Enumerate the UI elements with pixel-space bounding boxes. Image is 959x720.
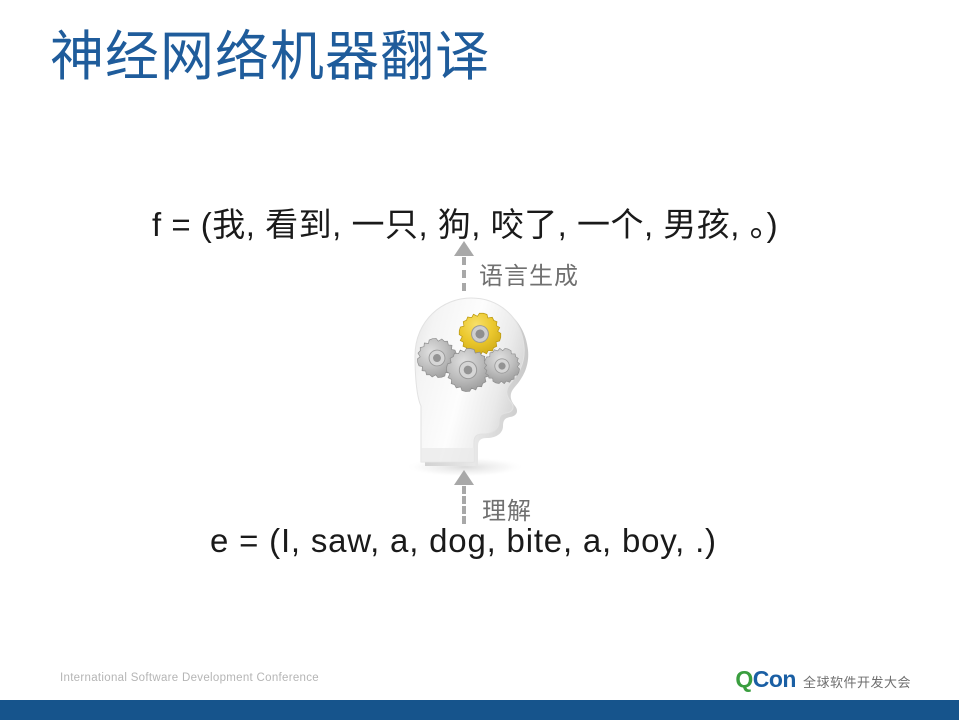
understanding-label: 理解 (482, 491, 532, 526)
footer-conference-text: International Software Development Confe… (60, 672, 319, 684)
arrow-head-up-icon (454, 470, 474, 485)
arrow-head-up-icon (454, 241, 474, 256)
understanding-arrow (451, 470, 477, 524)
page-title: 神经网络机器翻译 (50, 26, 490, 88)
bottom-accent-bar (0, 700, 959, 720)
language-generation-arrow (451, 241, 477, 291)
target-sentence-formula: f = (我, 看到, 一只, 狗, 咬了, 一个, 男孩, 。) (152, 198, 778, 246)
qcon-logo-con: Con (753, 666, 796, 693)
arrow-dashed-stem (462, 486, 466, 524)
slide-canvas: 神经网络机器翻译 f = (我, 看到, 一只, 狗, 咬了, 一个, 男孩, … (0, 0, 959, 720)
source-sentence-formula: e = (I, saw, a, dog, bite, a, boy, .) (210, 522, 717, 560)
qcon-logo-q: Q (735, 666, 752, 693)
qcon-logo-chinese: 全球软件开发大会 (803, 672, 911, 691)
head-with-gears-illustration (385, 286, 560, 486)
qcon-logo: Q Con 全球软件开发大会 (735, 666, 911, 693)
